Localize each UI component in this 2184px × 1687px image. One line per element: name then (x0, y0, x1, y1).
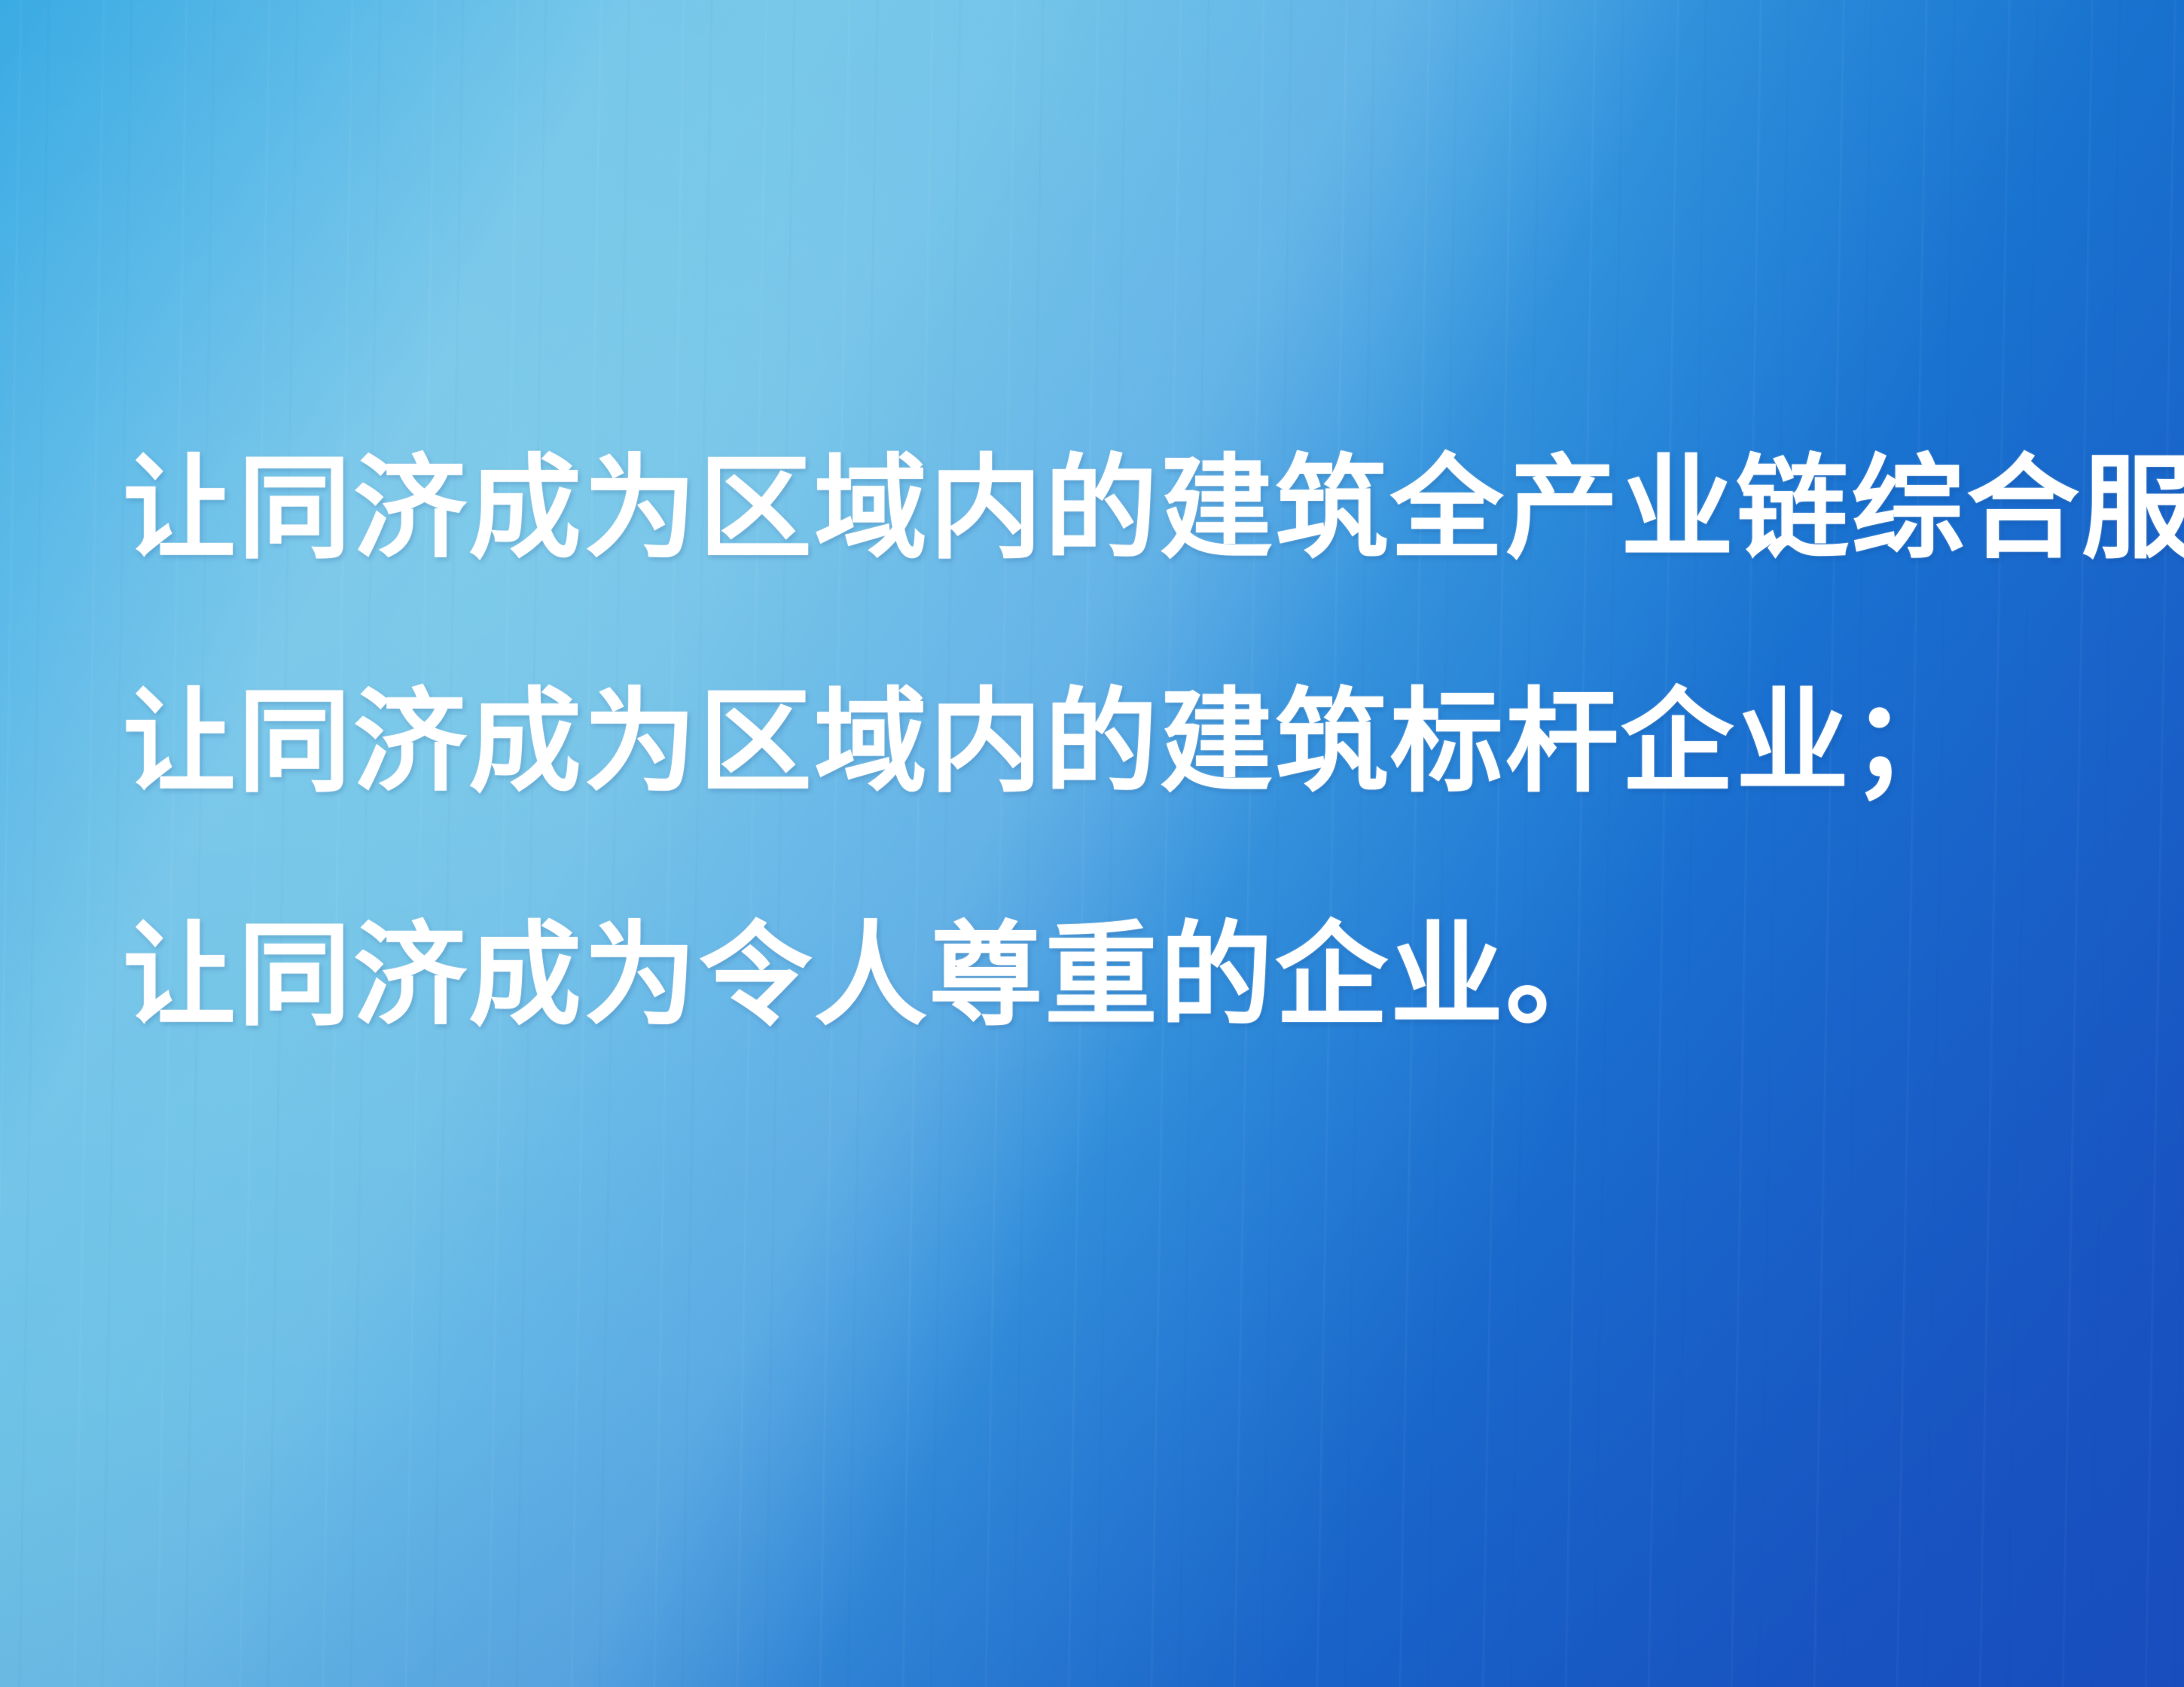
slide-line-3: 让同济成为令人尊重的企业。 (123, 919, 2111, 1032)
slide-canvas: 让同济成为区域内的建筑全产业链综合服务商； 让同济成为区域内的建筑标杆企业； 让… (0, 0, 2184, 1687)
slide-line-2: 让同济成为区域内的建筑标杆企业； (123, 685, 2111, 798)
slide-text-block: 让同济成为区域内的建筑全产业链综合服务商； 让同济成为区域内的建筑标杆企业； 让… (123, 452, 2111, 1032)
slide-line-1: 让同济成为区域内的建筑全产业链综合服务商； (123, 452, 2111, 565)
